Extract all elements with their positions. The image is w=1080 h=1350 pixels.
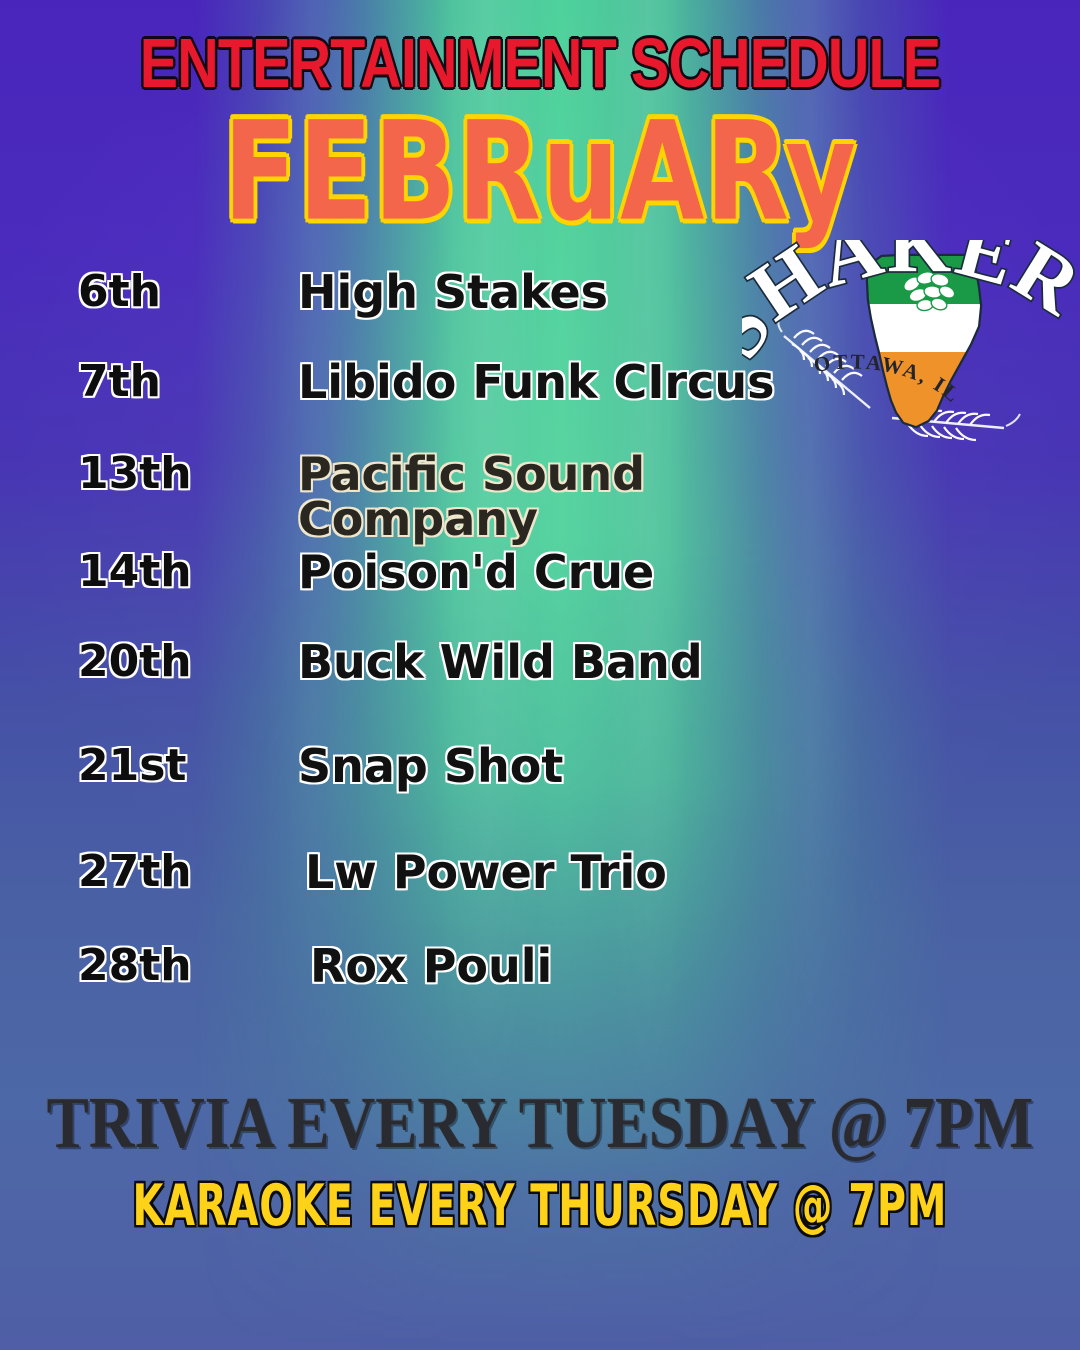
schedule-row: 20thBuck Wild Band [0, 640, 1080, 685]
event-date: 6th [0, 270, 215, 314]
event-date: 28th [0, 944, 215, 988]
event-date: 27th [0, 850, 215, 894]
event-date: 21st [0, 744, 215, 788]
schedule-row: 13thPacific Sound Company [0, 452, 1080, 542]
karaoke-promo: KARAOKE EVERY THURSDAY @ 7PM [22, 1176, 1059, 1233]
event-date: 7th [0, 360, 215, 404]
event-band-name: High Stakes [298, 270, 608, 315]
event-date: 13th [0, 452, 215, 496]
schedule-row: 14thPoison'd Crue [0, 550, 1080, 595]
event-band-name: Poison'd Crue [298, 550, 654, 595]
schedule-row: 21stSnap Shot [0, 744, 1080, 789]
schedule-row: 6thHigh Stakes [0, 270, 1080, 315]
schedule-row: 27thLw Power Trio [0, 850, 1080, 895]
event-band-name: Lw Power Trio [305, 850, 667, 895]
event-date: 14th [0, 550, 215, 594]
event-band-name: Buck Wild Band [298, 640, 703, 685]
schedule-row: 28thRox Pouli [0, 944, 1080, 989]
month-title: FEBRuARy [16, 104, 1064, 241]
event-band-name: Pacific Sound Company [298, 452, 645, 542]
poster-canvas: ENTERTAINMENT SCHEDULE FEBRuARy [0, 0, 1080, 1350]
page-title: ENTERTAINMENT SCHEDULE [97, 28, 983, 98]
schedule-row: 7thLibido Funk CIrcus [0, 360, 1080, 405]
event-band-name: Snap Shot [298, 744, 563, 789]
trivia-promo: TRIVIA EVERY TUESDAY @ 7PM [38, 1085, 1042, 1158]
event-band-name: Libido Funk CIrcus [298, 360, 775, 405]
poster-content: ENTERTAINMENT SCHEDULE FEBRuARy [0, 0, 1080, 1350]
event-band-name: Rox Pouli [310, 944, 552, 989]
event-date: 20th [0, 640, 215, 684]
